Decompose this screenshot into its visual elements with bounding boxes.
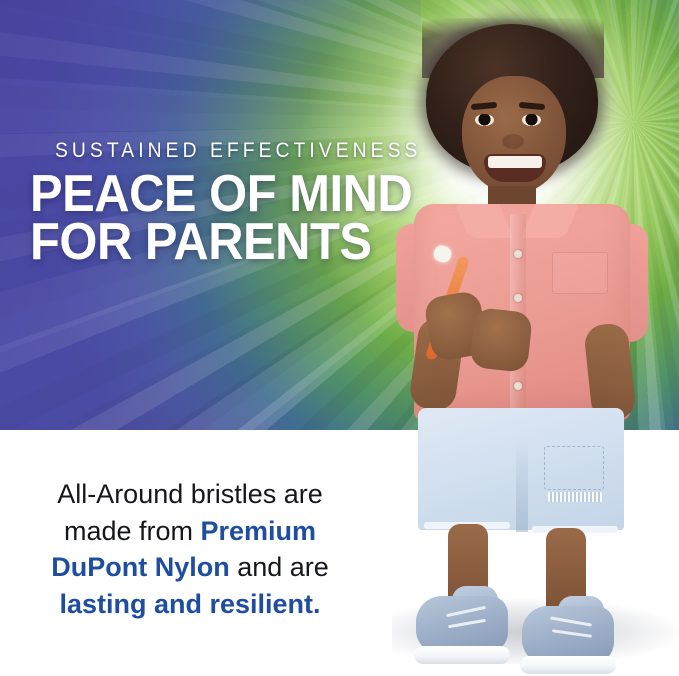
sneaker-right (522, 606, 614, 676)
sneaker-sole (414, 646, 510, 664)
promo-image: SUSTAINED EFFECTIVENESS PEACE OF MIND FO… (0, 0, 679, 676)
eye-right (522, 114, 541, 126)
teeth (488, 156, 542, 168)
hero-headline-line2: FOR PARENTS (30, 216, 372, 268)
copy-line-3-plain: and are (230, 552, 329, 582)
shirt-button (514, 382, 522, 390)
mouth (484, 154, 546, 182)
sneaker-sole (520, 656, 616, 674)
copy-line-1: All-Around bristles are (0, 438, 380, 513)
shorts-pocket (544, 446, 604, 490)
hero-eyebrow: SUSTAINED EFFECTIVENESS (55, 139, 421, 163)
shirt-button (514, 294, 522, 302)
sneaker-left (416, 596, 508, 674)
shorts-inseam (516, 438, 528, 532)
eye-left (475, 114, 494, 126)
copy-line-2-plain: made from (64, 516, 201, 546)
shorts-distressed-patch (548, 492, 602, 502)
nose (502, 134, 524, 149)
copy-line-2: made from Premium (0, 513, 380, 550)
child-figure (376, 18, 676, 668)
benefit-copy-block: All-Around bristles are made from Premiu… (0, 438, 380, 623)
shirt-pocket (552, 252, 608, 294)
copy-line-3-accent: DuPont Nylon (51, 552, 229, 582)
copy-line-3: DuPont Nylon and are (0, 549, 380, 586)
shirt-button (514, 250, 522, 258)
hand-right (469, 307, 533, 373)
copy-line-4: lasting and resilient. (0, 586, 380, 623)
copy-line-2-accent: Premium (201, 516, 317, 546)
